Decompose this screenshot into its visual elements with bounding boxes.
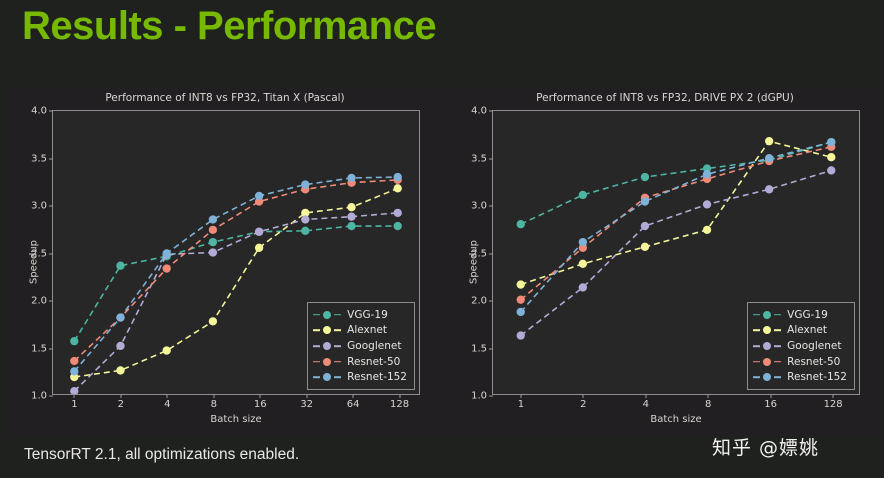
- y-tick-label: 3.0: [31, 201, 47, 212]
- x-tick-label: 8: [705, 399, 711, 410]
- chart-panel-titan-x: Performance of INT8 vs FP32, Titan X (Pa…: [6, 88, 444, 436]
- y-axis-label: Speedup: [469, 240, 480, 284]
- data-point: [579, 191, 587, 199]
- legend-item-label: VGG-19: [787, 309, 828, 321]
- data-point: [347, 222, 355, 230]
- x-tick-mark: [353, 394, 354, 398]
- x-tick-label: 16: [764, 399, 777, 410]
- data-point: [517, 280, 525, 288]
- y-tick-mark: [489, 348, 493, 349]
- legend-marker-icon: [313, 310, 341, 320]
- x-tick-label: 128: [390, 399, 409, 410]
- chart-legend: VGG-19AlexnetGooglenetResnet-50Resnet-15…: [307, 302, 415, 390]
- x-tick-mark: [306, 394, 307, 398]
- y-tick-label: 3.0: [471, 201, 487, 212]
- x-tick-mark: [399, 394, 400, 398]
- y-axis-label: Speedup: [29, 240, 40, 284]
- x-tick-mark: [260, 394, 261, 398]
- y-tick-label: 3.5: [471, 153, 487, 164]
- chart-title: Performance of INT8 vs FP32, Titan X (Pa…: [6, 92, 444, 104]
- data-point: [641, 222, 649, 230]
- data-point: [301, 227, 309, 235]
- y-tick-mark: [49, 348, 53, 349]
- y-tick-mark: [489, 206, 493, 207]
- data-point: [116, 342, 124, 350]
- data-point: [209, 215, 217, 223]
- x-tick-mark: [833, 394, 834, 398]
- data-point: [579, 283, 587, 291]
- y-tick-mark: [49, 396, 53, 397]
- y-tick-label: 1.0: [471, 391, 487, 402]
- footer-note: TensorRT 2.1, all optimizations enabled.: [24, 446, 299, 464]
- legend-item-label: Alexnet: [787, 324, 827, 336]
- plot-area: VGG-19AlexnetGooglenetResnet-50Resnet-15…: [492, 110, 860, 395]
- data-point: [209, 317, 217, 325]
- legend-item-resnet-152[interactable]: Resnet-152: [753, 369, 847, 385]
- x-tick-label: 8: [211, 399, 217, 410]
- chart-legend: VGG-19AlexnetGooglenetResnet-50Resnet-15…: [747, 302, 855, 390]
- x-tick-mark: [213, 394, 214, 398]
- x-axis-label: Batch size: [52, 414, 420, 425]
- legend-marker-icon: [313, 372, 341, 382]
- x-tick-label: 16: [254, 399, 267, 410]
- watermark: 知乎 @嫖姚: [712, 433, 819, 460]
- y-tick-mark: [49, 301, 53, 302]
- data-point: [641, 243, 649, 251]
- data-point: [347, 212, 355, 220]
- legend-item-label: Resnet-50: [787, 356, 840, 368]
- legend-item-label: VGG-19: [347, 309, 388, 321]
- x-tick-label: 2: [118, 399, 124, 410]
- x-tick-label: 1: [71, 399, 77, 410]
- series-line-vgg-19: [521, 142, 832, 224]
- series-line-resnet-152: [521, 142, 832, 312]
- data-point: [116, 262, 124, 270]
- y-tick-mark: [49, 111, 53, 112]
- data-point: [347, 174, 355, 182]
- data-point: [703, 170, 711, 178]
- data-point: [116, 313, 124, 321]
- data-point: [765, 154, 773, 162]
- x-tick-mark: [520, 394, 521, 398]
- x-tick-mark: [645, 394, 646, 398]
- legend-marker-icon: [313, 357, 341, 367]
- x-tick-mark: [120, 394, 121, 398]
- y-tick-label: 2.0: [31, 296, 47, 307]
- x-tick-mark: [167, 394, 168, 398]
- data-point: [209, 226, 217, 234]
- data-point: [394, 209, 402, 217]
- legend-item-vgg-19[interactable]: VGG-19: [313, 307, 407, 323]
- legend-marker-icon: [753, 357, 781, 367]
- legend-marker-icon: [753, 372, 781, 382]
- data-point: [70, 337, 78, 345]
- data-point: [579, 238, 587, 246]
- x-axis-label: Batch size: [492, 414, 860, 425]
- y-tick-label: 2.0: [471, 296, 487, 307]
- y-tick-mark: [49, 253, 53, 254]
- legend-marker-icon: [753, 325, 781, 335]
- legend-item-resnet-50[interactable]: Resnet-50: [753, 354, 847, 370]
- data-point: [765, 137, 773, 145]
- data-point: [163, 264, 171, 272]
- legend-marker-icon: [753, 341, 781, 351]
- y-tick-label: 2.5: [31, 248, 47, 259]
- data-point: [255, 244, 263, 252]
- y-tick-mark: [489, 301, 493, 302]
- data-point: [517, 220, 525, 228]
- data-point: [116, 366, 124, 374]
- plot-area: VGG-19AlexnetGooglenetResnet-50Resnet-15…: [52, 110, 420, 395]
- legend-item-label: Resnet-152: [347, 371, 407, 383]
- data-point: [394, 222, 402, 230]
- x-tick-label: 1: [518, 399, 524, 410]
- data-point: [765, 185, 773, 193]
- data-point: [163, 346, 171, 354]
- legend-item-alexnet[interactable]: Alexnet: [313, 323, 407, 339]
- x-tick-mark: [708, 394, 709, 398]
- y-tick-label: 4.0: [471, 106, 487, 117]
- data-point: [641, 197, 649, 205]
- y-tick-mark: [49, 206, 53, 207]
- data-point: [517, 308, 525, 316]
- data-point: [70, 357, 78, 365]
- x-tick-mark: [583, 394, 584, 398]
- y-tick-label: 4.0: [31, 106, 47, 117]
- data-point: [70, 367, 78, 375]
- slide-canvas: Results - Performance Performance of INT…: [0, 0, 884, 478]
- data-point: [394, 173, 402, 181]
- legend-item-googlenet[interactable]: Googlenet: [313, 338, 407, 354]
- data-point: [517, 331, 525, 339]
- data-point: [827, 153, 835, 161]
- data-point: [394, 184, 402, 192]
- legend-item-alexnet[interactable]: Alexnet: [753, 323, 847, 339]
- page-title: Results - Performance: [22, 4, 436, 49]
- data-point: [209, 248, 217, 256]
- y-tick-label: 1.0: [31, 391, 47, 402]
- legend-item-googlenet[interactable]: Googlenet: [753, 338, 847, 354]
- data-point: [703, 226, 711, 234]
- series-line-alexnet: [521, 141, 832, 284]
- legend-item-label: Googlenet: [787, 340, 841, 352]
- y-tick-mark: [489, 253, 493, 254]
- data-point: [301, 180, 309, 188]
- legend-item-resnet-152[interactable]: Resnet-152: [313, 369, 407, 385]
- chart-title: Performance of INT8 vs FP32, DRIVE PX 2 …: [446, 92, 884, 104]
- y-tick-label: 3.5: [31, 153, 47, 164]
- y-tick-label: 1.5: [31, 343, 47, 354]
- legend-item-label: Alexnet: [347, 324, 387, 336]
- y-tick-label: 1.5: [471, 343, 487, 354]
- data-point: [255, 228, 263, 236]
- x-tick-mark: [74, 394, 75, 398]
- legend-marker-icon: [313, 341, 341, 351]
- data-point: [347, 203, 355, 211]
- x-tick-mark: [770, 394, 771, 398]
- legend-marker-icon: [753, 310, 781, 320]
- x-tick-label: 4: [643, 399, 649, 410]
- x-tick-label: 2: [580, 399, 586, 410]
- legend-item-label: Resnet-50: [347, 356, 400, 368]
- legend-item-vgg-19[interactable]: VGG-19: [753, 307, 847, 323]
- data-point: [827, 138, 835, 146]
- x-tick-label: 32: [300, 399, 313, 410]
- series-line-resnet-50: [521, 147, 832, 300]
- data-point: [579, 260, 587, 268]
- y-tick-mark: [49, 158, 53, 159]
- chart-panel-drive-px-2: Performance of INT8 vs FP32, DRIVE PX 2 …: [446, 88, 884, 436]
- y-tick-mark: [489, 396, 493, 397]
- data-point: [163, 249, 171, 257]
- data-point: [301, 215, 309, 223]
- legend-marker-icon: [313, 325, 341, 335]
- data-point: [255, 192, 263, 200]
- x-tick-label: 128: [824, 399, 843, 410]
- y-tick-label: 2.5: [471, 248, 487, 259]
- legend-item-label: Googlenet: [347, 340, 401, 352]
- x-tick-label: 64: [347, 399, 360, 410]
- legend-item-resnet-50[interactable]: Resnet-50: [313, 354, 407, 370]
- y-tick-mark: [489, 111, 493, 112]
- legend-item-label: Resnet-152: [787, 371, 847, 383]
- data-point: [703, 200, 711, 208]
- data-point: [641, 173, 649, 181]
- data-point: [209, 238, 217, 246]
- x-tick-label: 4: [164, 399, 170, 410]
- data-point: [517, 295, 525, 303]
- y-tick-mark: [489, 158, 493, 159]
- data-point: [827, 166, 835, 174]
